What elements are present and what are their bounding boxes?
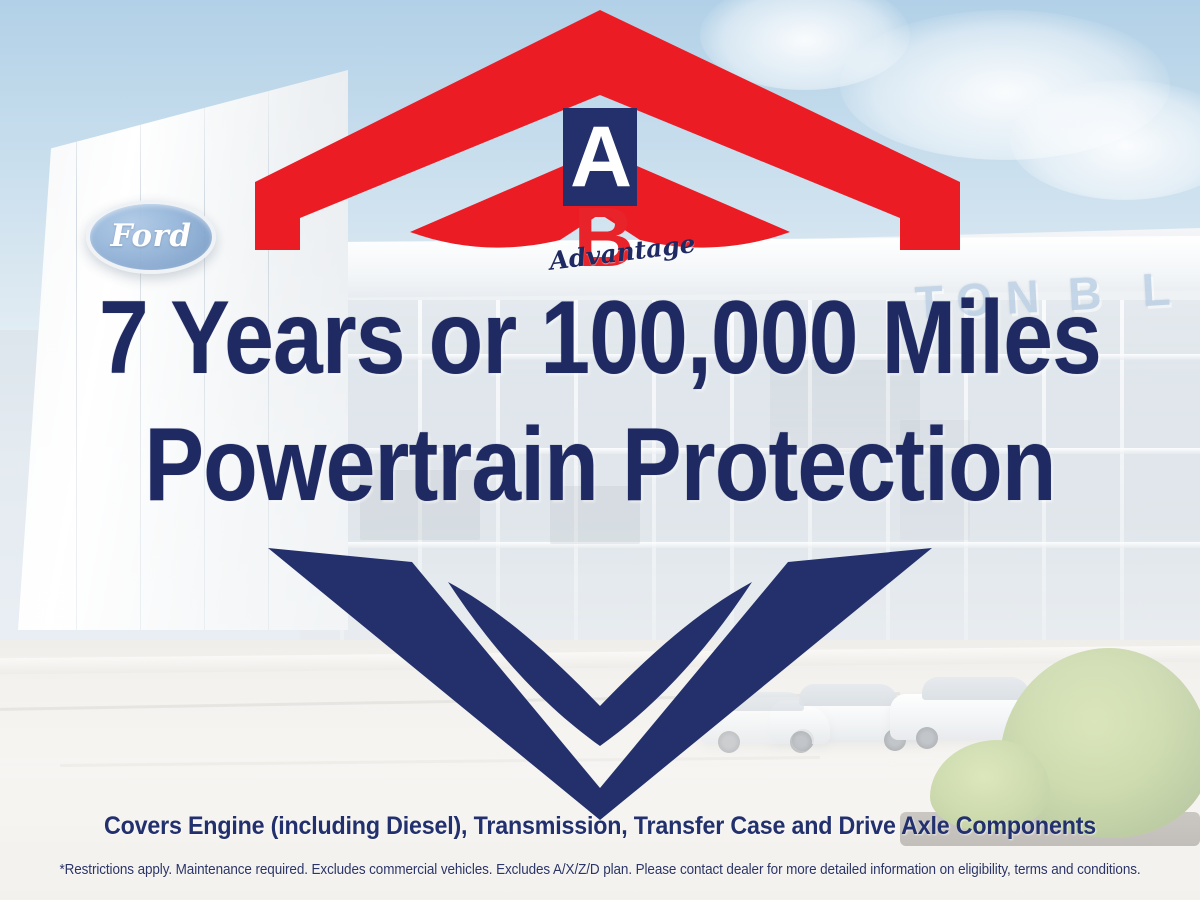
navy-chevron-graphic: [0, 520, 1200, 820]
promotional-banner: Ford TON B L A A: [0, 0, 1200, 900]
headline-line-2: Powertrain Protection: [84, 412, 1116, 518]
coverage-subheadline: Covers Engine (including Diesel), Transm…: [42, 812, 1158, 841]
navy-chevron-outer: [268, 548, 932, 820]
logo-letter-a: A: [570, 122, 630, 193]
ab-advantage-logo: A B Advantage: [555, 108, 650, 288]
headline-line-1: 7 Years or 100,000 Miles: [84, 285, 1116, 391]
legal-disclaimer: *Restrictions apply. Maintenance require…: [42, 862, 1158, 878]
